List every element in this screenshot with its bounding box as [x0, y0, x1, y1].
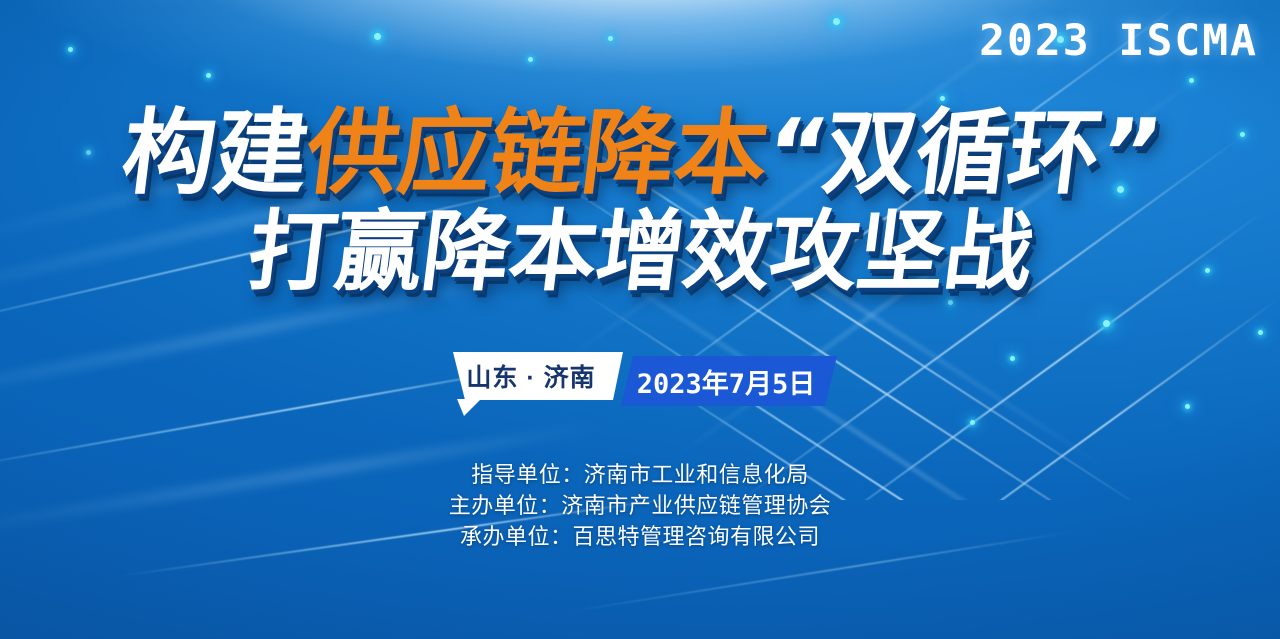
headline: 构建供应链降本“双循环” 打赢降本增效攻坚战	[0, 108, 1280, 295]
quote-close: ”	[1093, 99, 1163, 207]
city-badge-label: 山东 · 济南	[466, 358, 595, 394]
headline-line-2: 打赢降本增效攻坚战	[0, 209, 1280, 295]
date-badge: 2023年7月5日	[615, 356, 837, 406]
headline-part-supplychain-cost: 供应链降本	[300, 99, 773, 207]
organizer-block: 指导单位：济南市工业和信息化局 主办单位：济南市产业供应链管理协会 承办单位：百…	[0, 459, 1280, 552]
headline-line-1: 构建供应链降本“双循环”	[0, 108, 1280, 199]
event-logo: 2023 ISCMA	[979, 16, 1258, 66]
organizer-line-host: 主办单位：济南市产业供应链管理协会	[0, 490, 1280, 521]
headline-part-dual-circulation: 双循环	[817, 99, 1106, 207]
organizer-line-organizer: 承办单位：百思特管理咨询有限公司	[0, 521, 1280, 552]
date-badge-label: 2023年7月5日	[637, 362, 816, 401]
organizer-line-guidance: 指导单位：济南市工业和信息化局	[0, 459, 1280, 490]
conference-poster: 2023 ISCMA 构建供应链降本“双循环” 打赢降本增效攻坚战 山东 · 济…	[0, 0, 1280, 639]
city-badge: 山东 · 济南	[443, 352, 623, 400]
headline-part-construct: 构建	[116, 99, 313, 207]
